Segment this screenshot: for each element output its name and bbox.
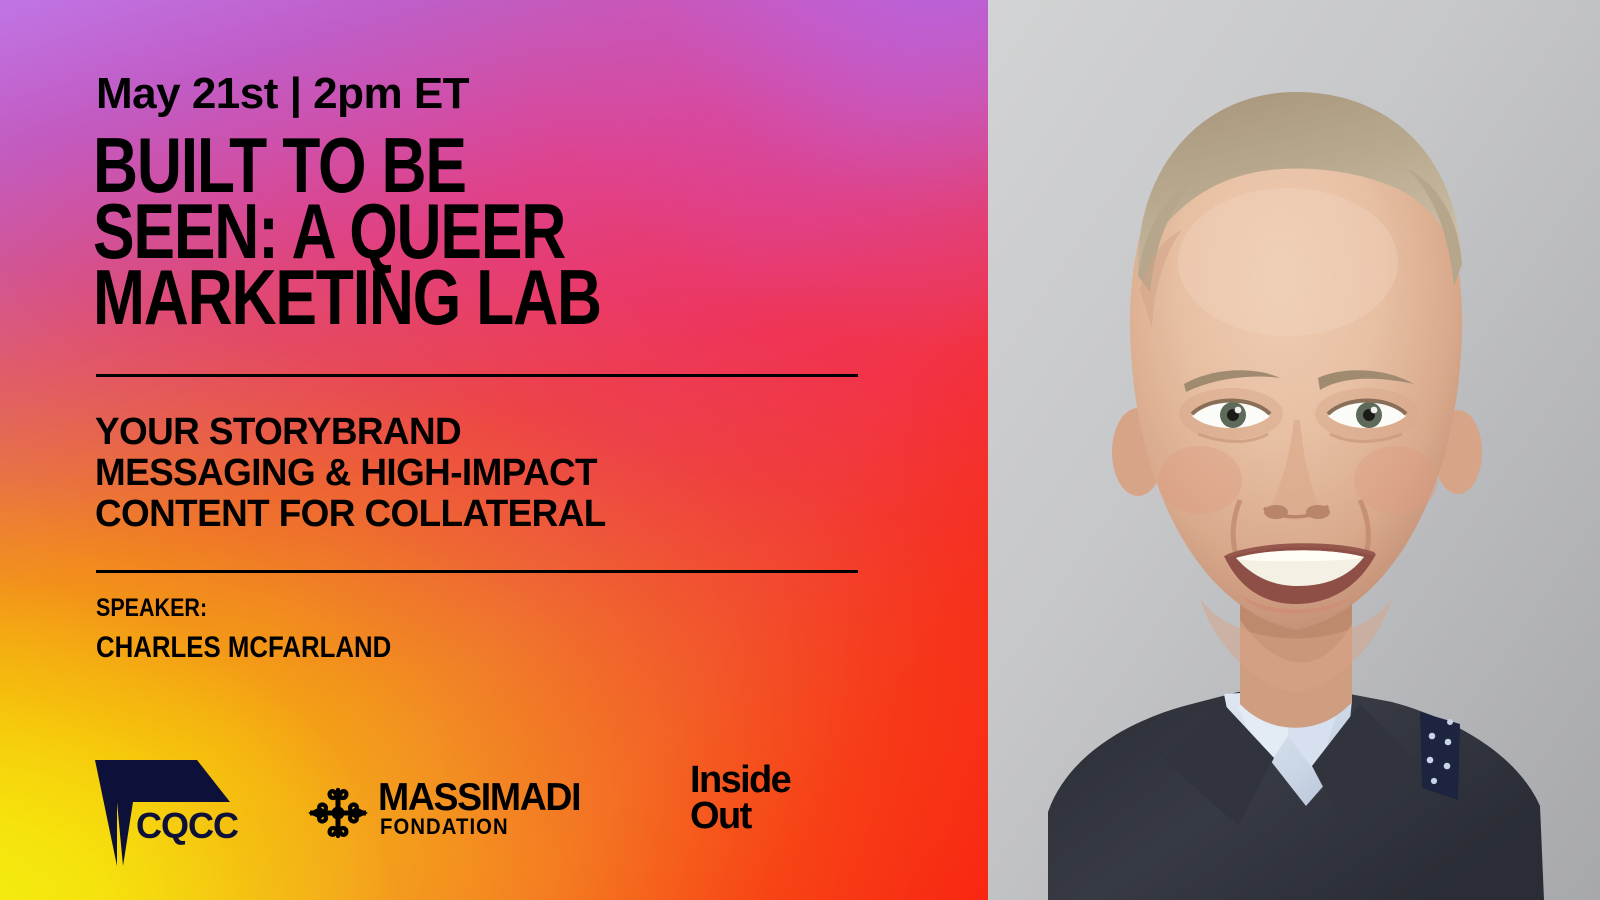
divider-rule-bottom (96, 570, 858, 573)
logo-massimadi: MASSIMADI FONDATION (306, 772, 636, 852)
headline-line-3: MARKETING LAB (93, 265, 917, 331)
logo-inside-out: Inside Out (690, 762, 790, 834)
speaker-label: SPEAKER: (96, 593, 391, 624)
event-date-line: May 21st | 2pm ET (96, 72, 469, 116)
logo-massimadi-label: MASSIMADI (378, 778, 580, 817)
logo-inside-out-line-1: Inside (690, 762, 790, 798)
panel-content: May 21st | 2pm ET BUILT TO BE SEEN: A QU… (0, 0, 1600, 900)
logo-inside-out-line-2: Out (690, 798, 790, 834)
logo-cqcc-label: CQCC (136, 808, 238, 844)
adinkra-ornament-icon (306, 784, 370, 847)
divider-rule-top (96, 374, 858, 377)
event-headline: BUILT TO BE SEEN: A QUEER MARKETING LAB (93, 133, 917, 331)
speaker-block: SPEAKER: CHARLES MCFARLAND (96, 593, 439, 667)
webinar-promo-poster: May 21st | 2pm ET BUILT TO BE SEEN: A QU… (0, 0, 1600, 900)
logo-massimadi-sublabel: FONDATION (380, 816, 509, 838)
sponsor-logo-row: CQCC (93, 750, 893, 865)
subtitle-line-2: MESSAGING & HIGH-IMPACT (95, 453, 606, 494)
subtitle-line-3: CONTENT FOR COLLATERAL (95, 494, 606, 535)
logo-cqcc: CQCC (93, 750, 243, 865)
speaker-name: CHARLES MCFARLAND (96, 628, 391, 667)
subtitle-line-1: YOUR STORYBRAND (95, 412, 606, 453)
event-subtitle: YOUR STORYBRAND MESSAGING & HIGH-IMPACT … (95, 412, 606, 535)
